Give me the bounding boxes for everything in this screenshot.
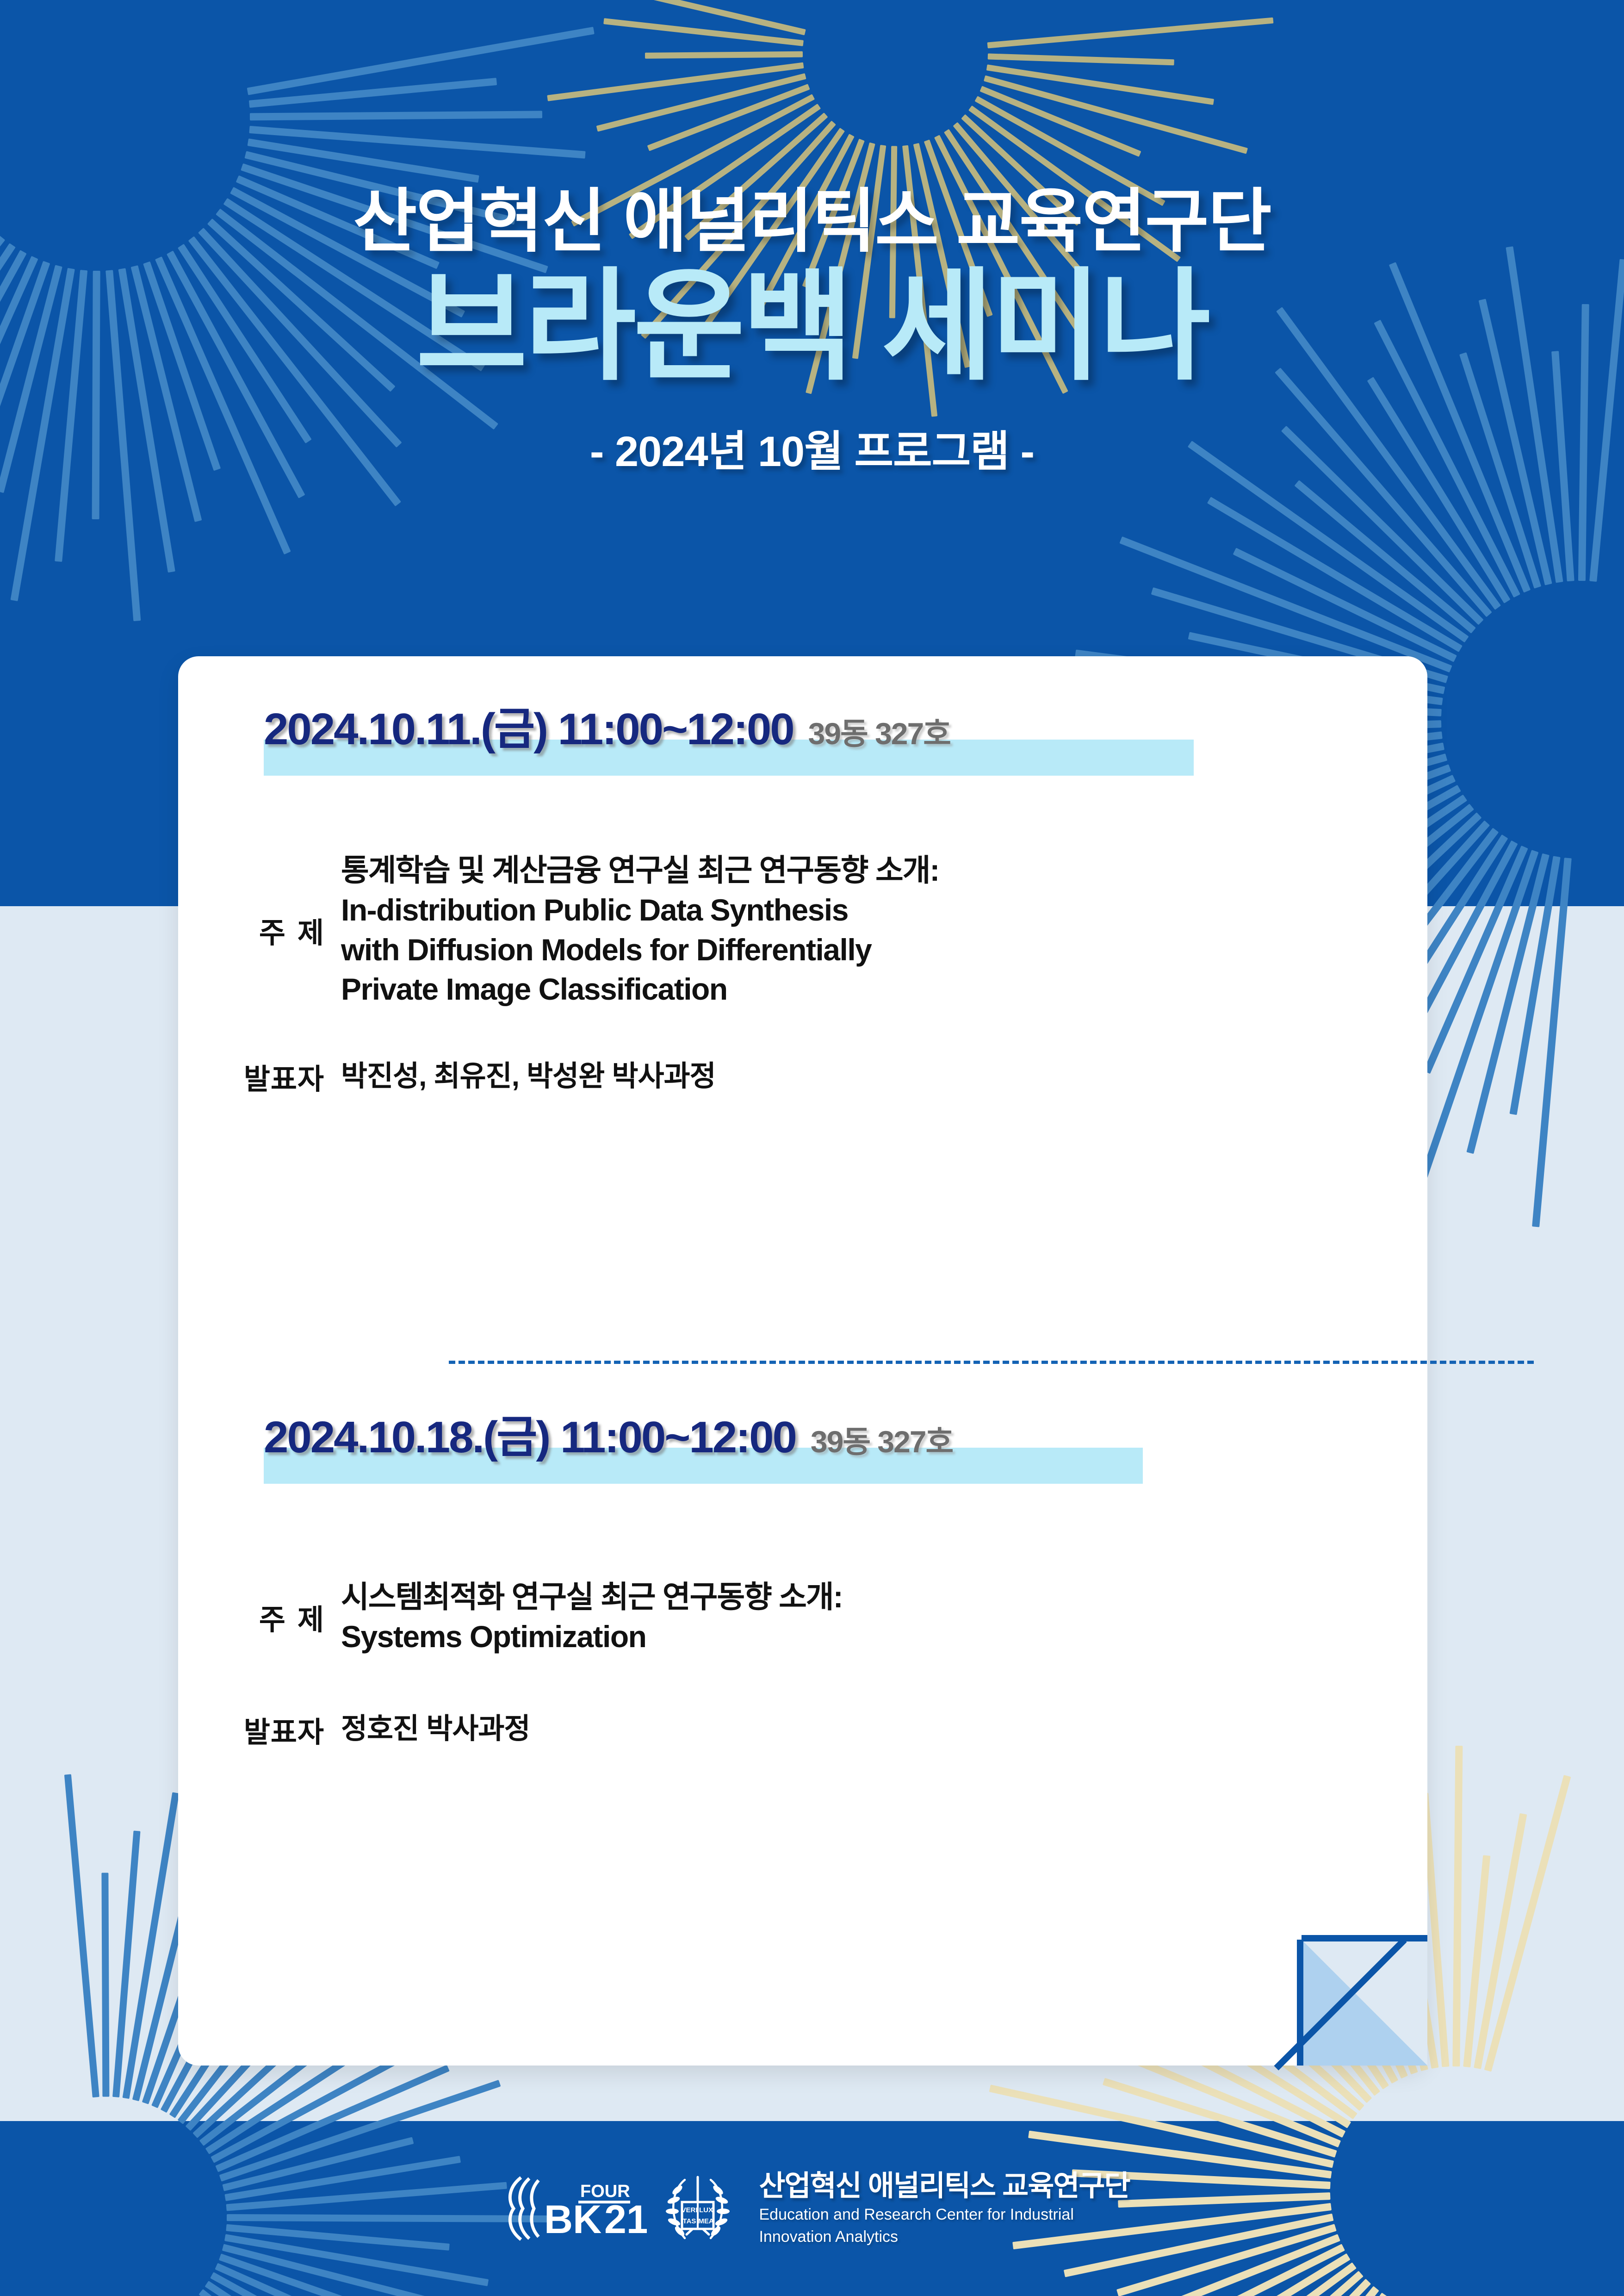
session-2-subject-label: 주제: [178, 1596, 341, 1638]
title-line-2: 브라운백 세미나: [0, 265, 1624, 388]
session-block-1: 2024.10.11.(금) 11:00~12:0039동 327호 주제 통계…: [178, 707, 1427, 1097]
footer-org-text: 산업혁신 애널리틱스 교육연구단 Education and Research …: [759, 2171, 1129, 2246]
footer-org-english-line1: Education and Research Center for Indust…: [759, 2205, 1129, 2224]
emblem-word: TAS: [683, 2217, 696, 2225]
title-subtitle: - 2024년 10월 프로그램 -: [0, 417, 1624, 479]
subject-line: Systems Optimization: [341, 1617, 1427, 1657]
program-card: 2024.10.11.(금) 11:00~12:0039동 327호 주제 통계…: [178, 656, 1427, 2066]
emblem-word: MEA: [699, 2217, 714, 2225]
snu-emblem-icon: VERI LUX TAS MEA: [659, 2170, 737, 2247]
emblem-word: VERI: [682, 2206, 698, 2214]
session-1-subject-row: 주제 통계학습 및 계산금융 연구실 최근 연구동향 소개: In-distri…: [178, 851, 1427, 1009]
session-1-datetime: 2024.10.11.(금) 11:00~12:00: [264, 707, 793, 752]
session-2-room: 39동 327호: [811, 1417, 953, 1462]
subject-line: 시스템최적화 연구실 최근 연구동향 소개:: [341, 1577, 1427, 1617]
session-2-presenter-value: 정호진 박사과정: [341, 1711, 1427, 1748]
card-fold-edge-horizontal: [1302, 1935, 1427, 1941]
session-2-header: 2024.10.18.(금) 11:00~12:0039동 327호: [264, 1415, 1427, 1485]
bk-label: BK: [544, 2197, 601, 2242]
seminar-poster: 산업혁신 애널리틱스 교육연구단 브라운백 세미나 - 2024년 10월 프로…: [0, 0, 1624, 2296]
title-line-1: 산업혁신 애널리틱스 교육연구단: [0, 185, 1624, 258]
subject-line: In-distribution Public Data Synthesis: [341, 890, 1427, 930]
session-1-subject-label: 주제: [178, 909, 341, 951]
bk-number: 21: [604, 2197, 647, 2242]
footer-logo-bar: BK 21 FOUR: [0, 2121, 1624, 2296]
session-1-subject-value: 통계학습 및 계산금융 연구실 최근 연구동향 소개: In-distribut…: [341, 851, 1427, 1009]
session-1-room: 39동 327호: [808, 709, 950, 753]
session-2-datetime: 2024.10.18.(금) 11:00~12:00: [264, 1415, 796, 1460]
session-2-subject-value: 시스템최적화 연구실 최근 연구동향 소개: Systems Optimizat…: [341, 1577, 1427, 1657]
bk-four-label: FOUR: [580, 2182, 630, 2201]
session-1-header: 2024.10.11.(금) 11:00~12:0039동 327호: [264, 707, 1427, 777]
session-2-subject-row: 주제 시스템최적화 연구실 최근 연구동향 소개: Systems Optimi…: [178, 1577, 1427, 1657]
footer-org-english-line2: Innovation Analytics: [759, 2228, 1129, 2246]
session-2-presenter-row: 발표자 정호진 박사과정: [178, 1709, 1427, 1750]
subject-line: 통계학습 및 계산금융 연구실 최근 연구동향 소개:: [341, 851, 1427, 890]
session-2-presenter-label: 발표자: [178, 1709, 341, 1750]
session-divider: [449, 1361, 1534, 1364]
bk21-four-logo-icon: BK 21 FOUR: [494, 2174, 647, 2243]
emblem-word: LUX: [699, 2206, 713, 2214]
subject-line: Private Image Classification: [341, 970, 1427, 1009]
session-block-2: 2024.10.18.(금) 11:00~12:0039동 327호 주제 시스…: [178, 1415, 1427, 1750]
footer-org-korean: 산업혁신 애널리틱스 교육연구단: [759, 2171, 1129, 2202]
session-1-presenter-value: 박진성, 최유진, 박성완 박사과정: [341, 1058, 1427, 1095]
card-fold-triangle: [1302, 1941, 1427, 2066]
subject-line: with Diffusion Models for Differentially: [341, 930, 1427, 970]
session-1-presenter-label: 발표자: [178, 1056, 341, 1097]
session-1-presenter-row: 발표자 박진성, 최유진, 박성완 박사과정: [178, 1056, 1427, 1097]
poster-title-block: 산업혁신 애널리틱스 교육연구단 브라운백 세미나 - 2024년 10월 프로…: [0, 185, 1624, 479]
